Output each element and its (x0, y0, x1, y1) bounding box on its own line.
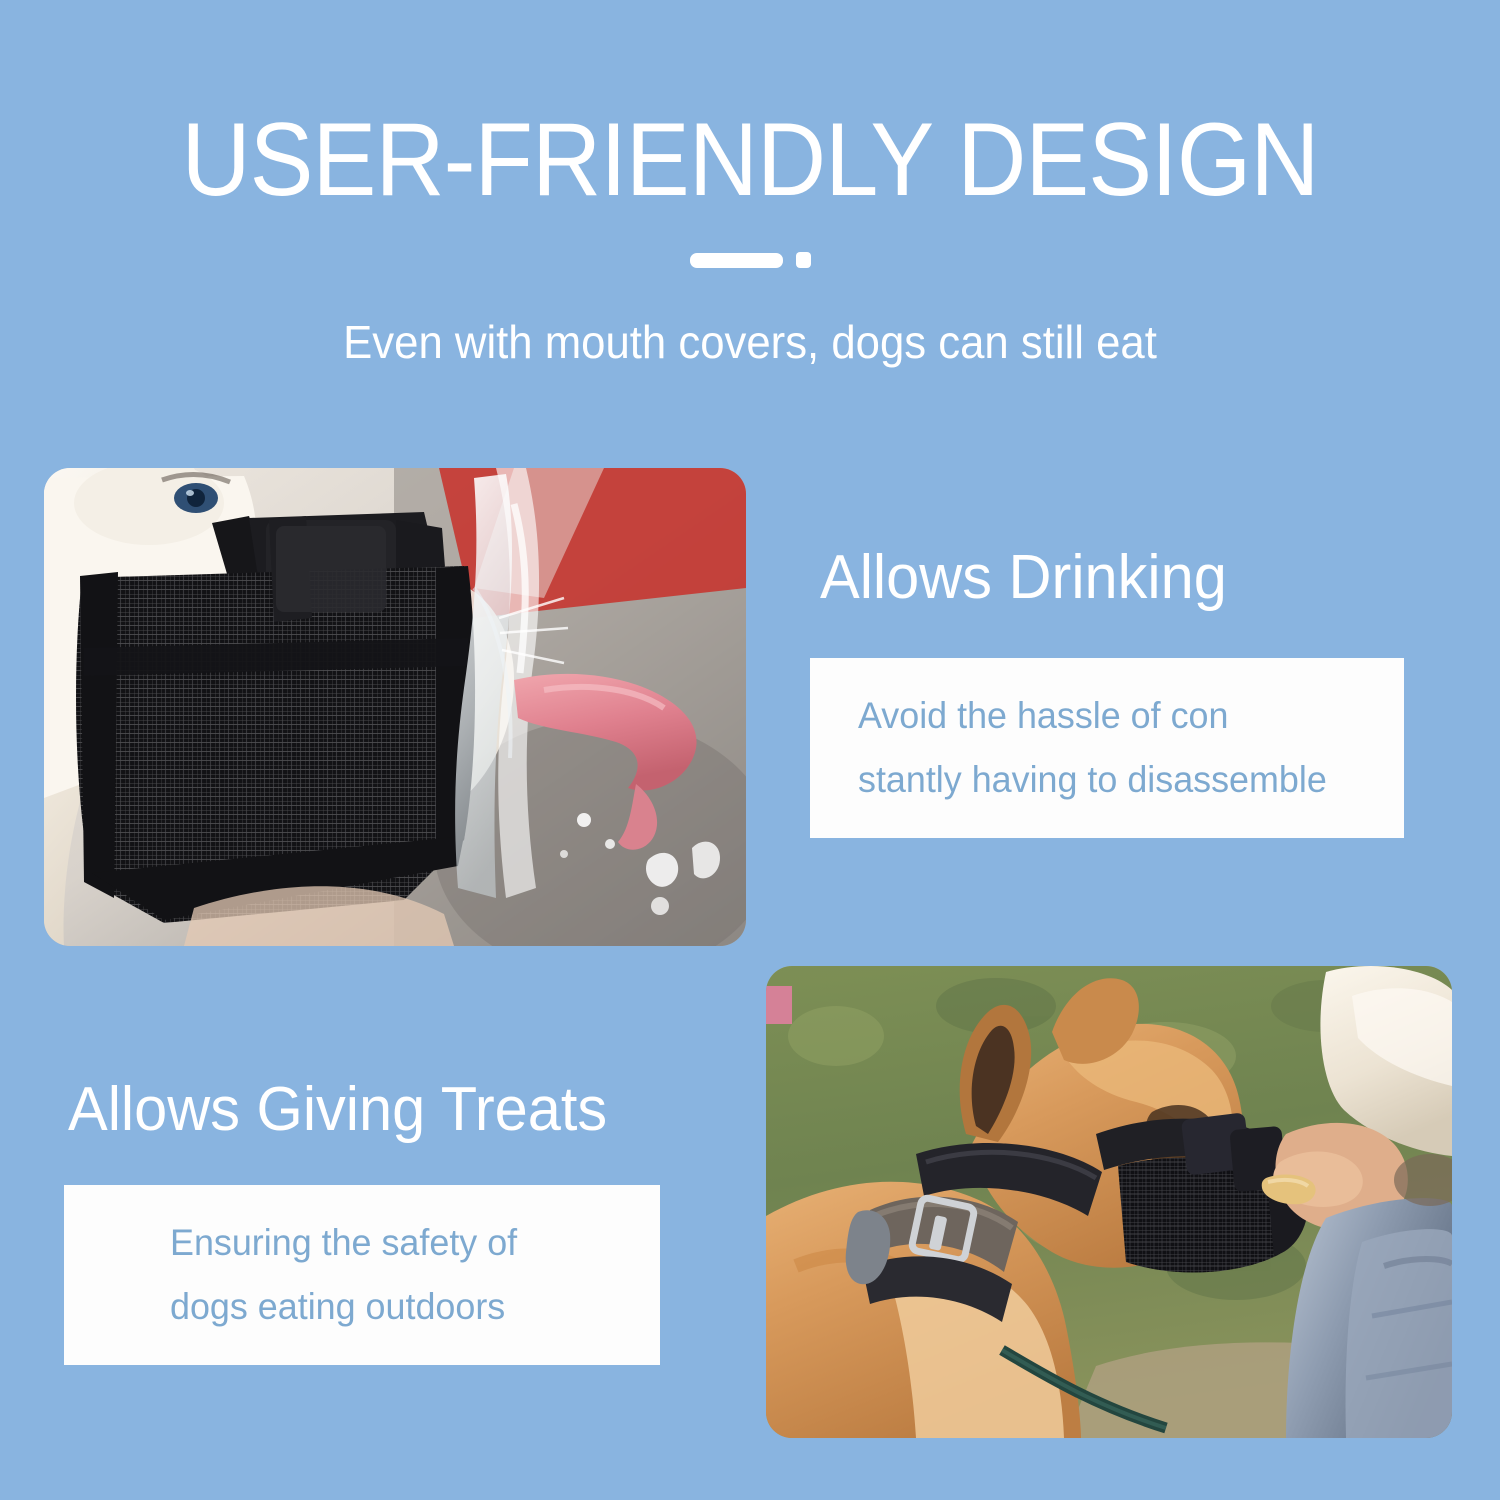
feature-card-allows-giving-treats: Ensuring the safety of dogs eating outdo… (64, 1185, 660, 1365)
feature-text-line: dogs eating outdoors (170, 1275, 542, 1339)
page-subtitle: Even with mouth covers, dogs can still e… (38, 313, 1463, 371)
title-divider (0, 252, 1500, 268)
feature-title-allows-giving-treats: Allows Giving Treats (68, 1073, 607, 1147)
feature-text-line: Ensuring the safety of (170, 1211, 542, 1275)
infographic-canvas: USER-FRIENDLY DESIGN Even with mouth cov… (0, 0, 1500, 1500)
page-title: USER-FRIENDLY DESIGN (60, 104, 1440, 216)
feature-title-allows-drinking: Allows Drinking (820, 541, 1227, 615)
feature-text-line: Avoid the hassle of con (858, 684, 1341, 748)
husky-drinking-water-illustration (44, 468, 746, 946)
divider-dot-icon (796, 252, 811, 268)
divider-bar-icon (690, 253, 783, 268)
husky-drinking-water-photo (44, 468, 746, 946)
feature-text-line: stantly having to disassemble (858, 748, 1341, 812)
dog-receiving-treat-illustration (766, 966, 1452, 1438)
dog-receiving-treat-photo (766, 966, 1452, 1438)
feature-card-allows-drinking: Avoid the hassle of con stantly having t… (810, 658, 1404, 838)
